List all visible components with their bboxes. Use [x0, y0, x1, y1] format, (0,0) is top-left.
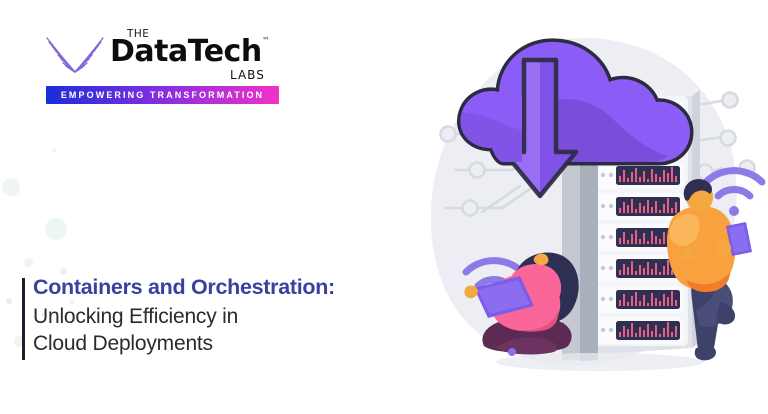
- logo-labs-text: LABS: [230, 68, 265, 82]
- headline-accent-rule: [22, 278, 25, 360]
- headline-text-group: Containers and Orchestration: Unlocking …: [33, 274, 353, 358]
- brand-logo[interactable]: THE DataTech ™ LABS EMPOWERING TRANSFORM…: [44, 26, 284, 108]
- decorative-bubble: [6, 298, 12, 304]
- logo-tagline-bar: EMPOWERING TRANSFORMATION: [46, 86, 279, 104]
- decorative-bubble: [45, 218, 67, 240]
- decorative-bubble: [2, 178, 20, 196]
- logo-trademark-symbol: ™: [262, 36, 270, 45]
- logo-main-text: DataTech: [110, 37, 262, 67]
- logo-tagline-text: EMPOWERING TRANSFORMATION: [61, 90, 264, 100]
- page-subtitle-line-2: Cloud Deployments: [33, 331, 353, 358]
- logo-wordmark: THE DataTech ™ LABS: [110, 26, 286, 84]
- page-title: Containers and Orchestration:: [33, 274, 353, 301]
- banner-root: THE DataTech ™ LABS EMPOWERING TRANSFORM…: [0, 0, 768, 414]
- page-subtitle-line-1: Unlocking Efficiency in: [33, 304, 353, 331]
- decorative-bubble: [52, 148, 57, 153]
- cloud-server-deployment-illustration: [400, 0, 768, 414]
- butterfly-wing-icon: [44, 28, 106, 80]
- decorative-bubble: [24, 258, 33, 267]
